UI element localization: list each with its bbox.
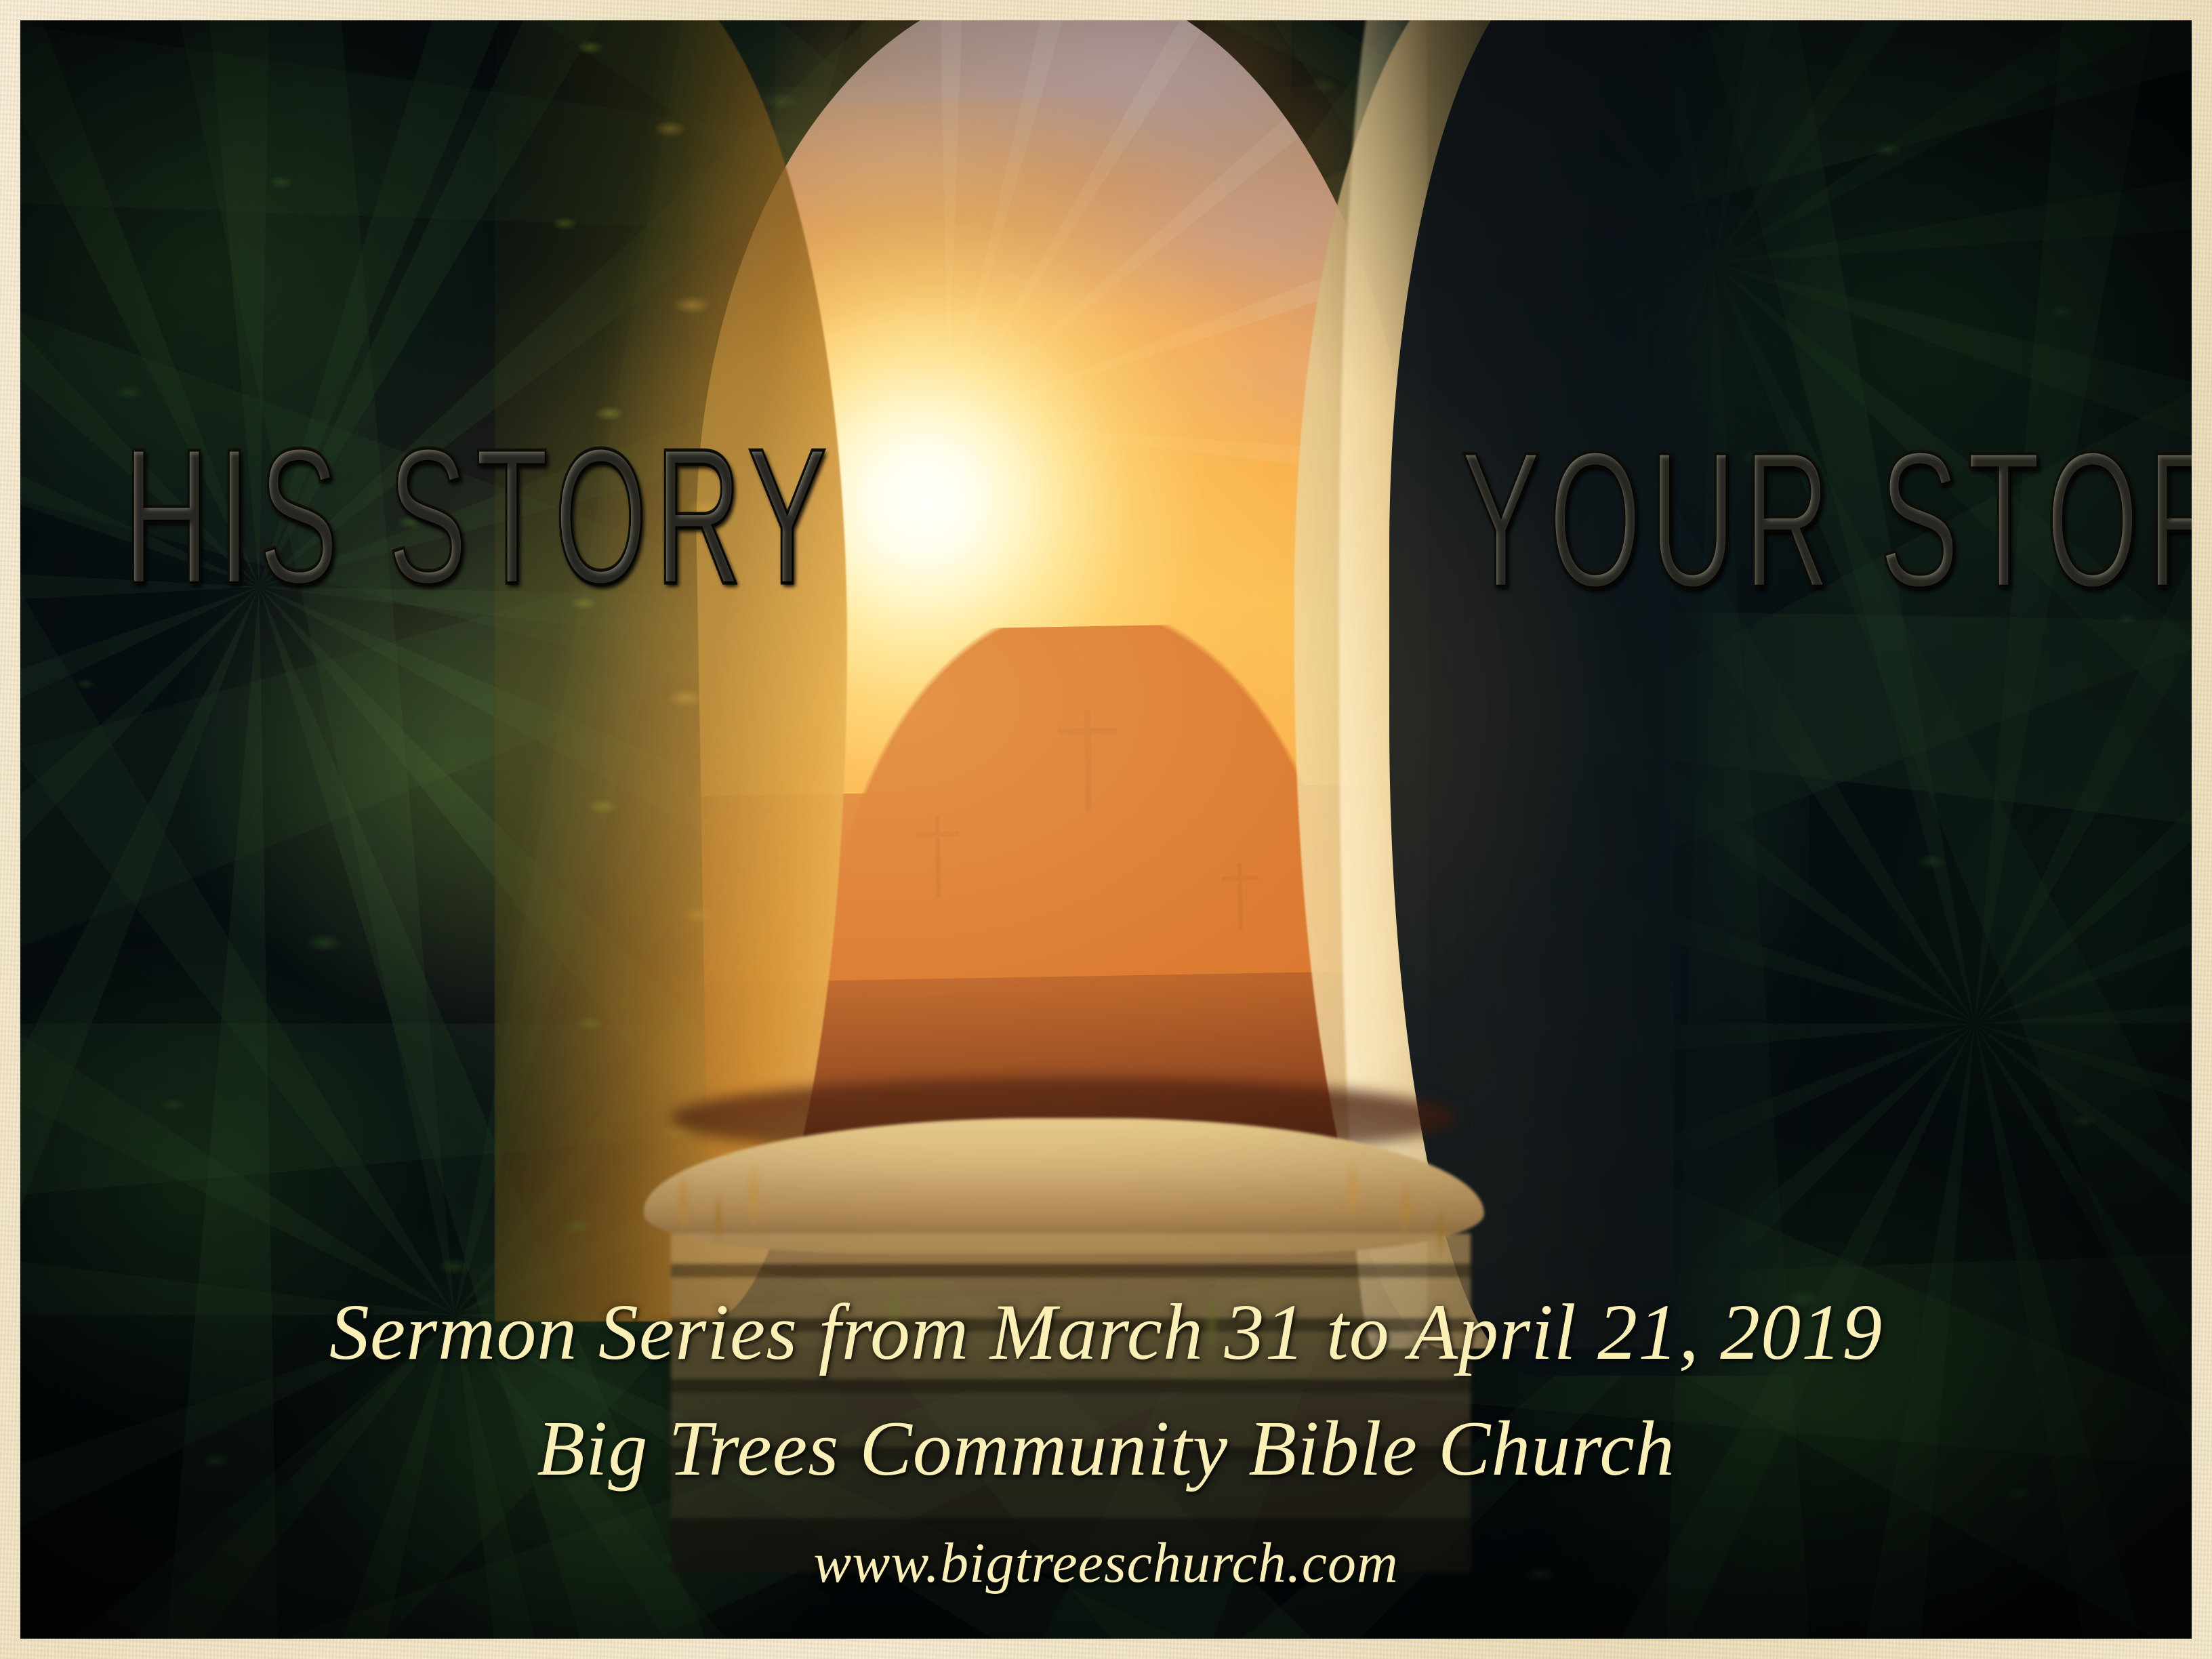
headline-your-story: YOUR STORY YOUR STORY [1461,424,2192,617]
headline-his-story-inline: HIS STORY [123,420,835,613]
sermon-dates-line: Sermon Series from March 31 to April 21,… [20,1286,2192,1378]
cross-beam [916,832,958,837]
cross-beam [1058,728,1116,735]
headline-your-story-inline: YOUR STORY [1461,424,2192,617]
tomb-photograph: HIS STORY HIS STORY YOUR STORY YOUR STOR… [20,20,2192,1639]
website-line[interactable]: www.bigtreeschurch.com [20,1530,2192,1596]
poster-canvas: HIS STORY HIS STORY YOUR STORY YOUR STOR… [0,0,2212,1659]
headline-his-story: HIS STORY HIS STORY [123,420,835,613]
cross-beam [1221,876,1258,881]
church-name-line: Big Trees Community Bible Church [20,1404,2192,1494]
